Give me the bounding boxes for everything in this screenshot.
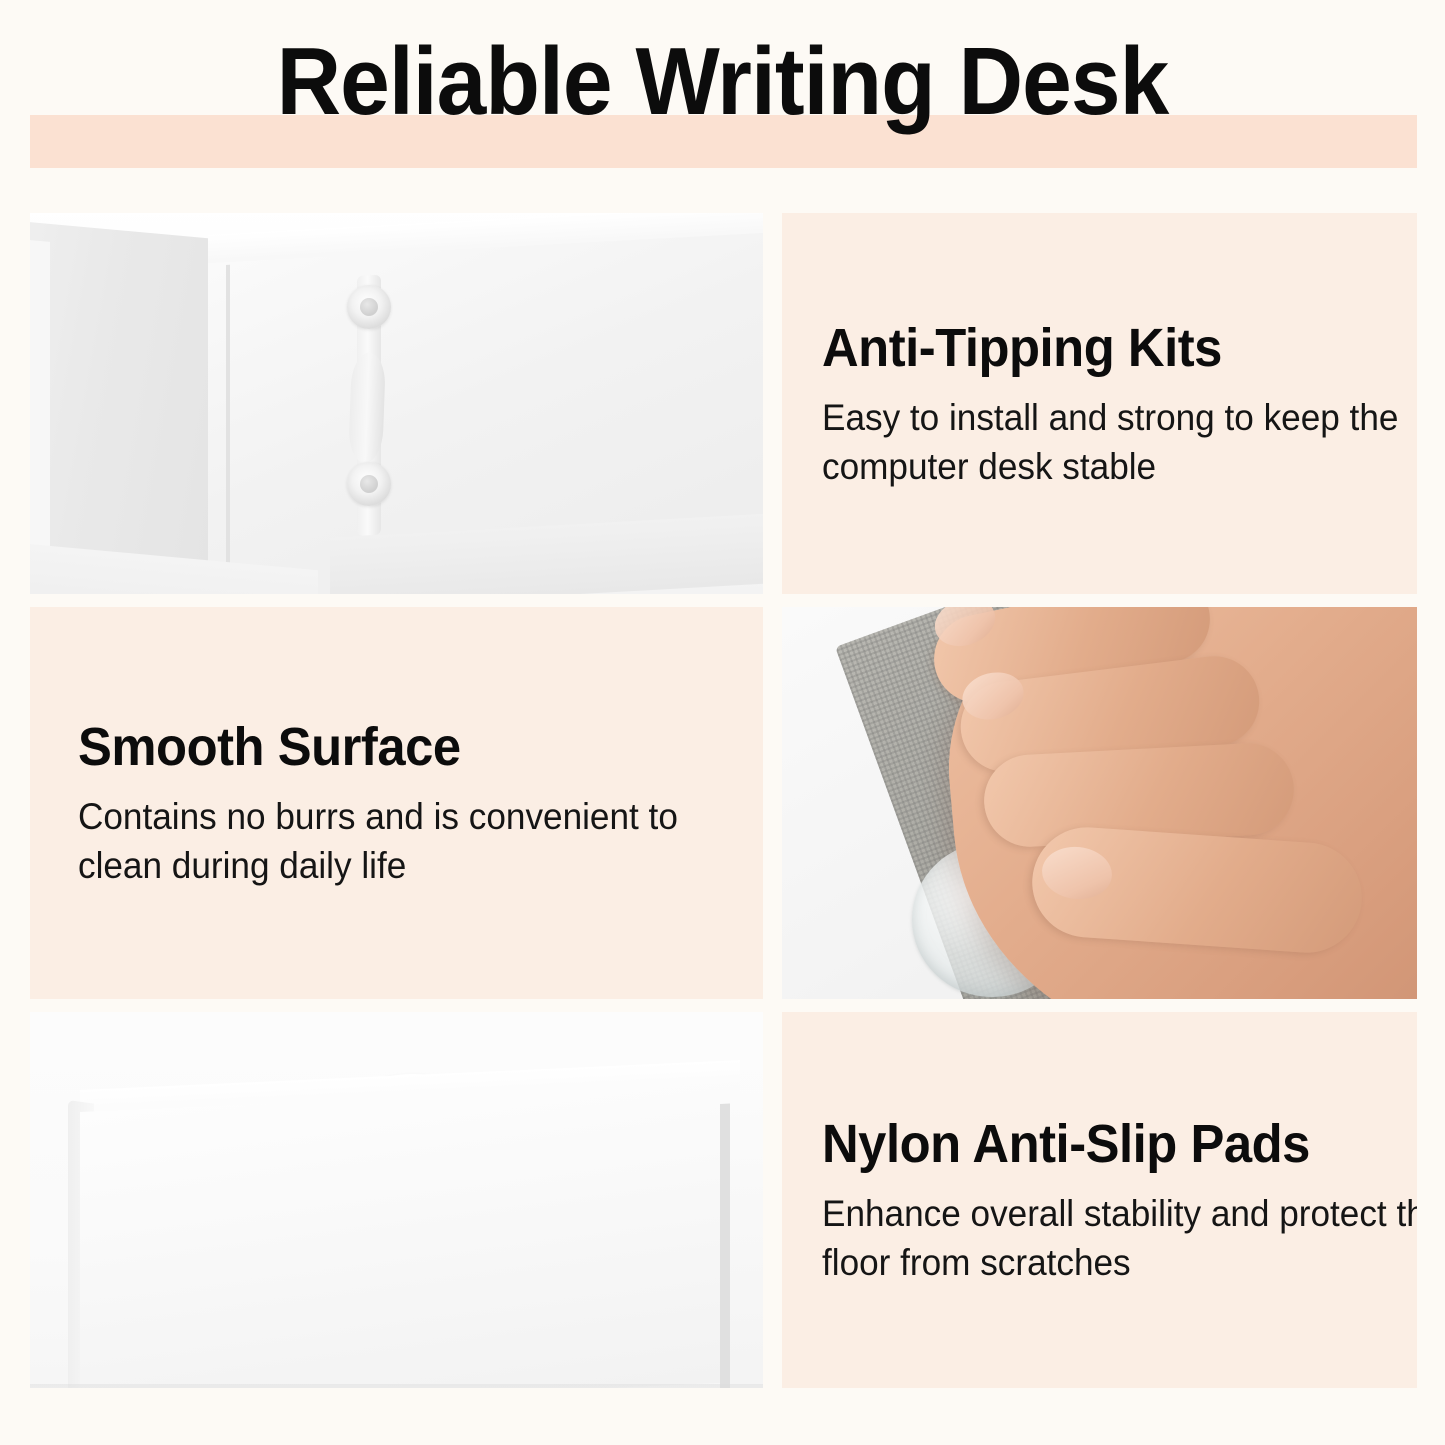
- feature-description-line: Contains no burrs and is convenient to: [78, 792, 700, 841]
- floor-shadow: [30, 1384, 763, 1388]
- feature-image-smooth-surface: [782, 607, 1417, 999]
- desk-side-panel: [30, 221, 208, 594]
- feature-text-nylon-anti-slip-pads: Nylon Anti-Slip Pads Enhance overall sta…: [782, 1012, 1417, 1388]
- feature-grid: Anti-Tipping Kits Easy to install and st…: [30, 213, 1417, 1388]
- feature-description: Contains no burrs and is convenient to c…: [78, 792, 700, 890]
- desk-side-panel-edge: [30, 239, 50, 594]
- feature-image-anti-tipping-kits: [30, 213, 763, 594]
- feature-description-line: computer desk stable: [822, 442, 1359, 491]
- page-title: Reliable Writing Desk: [51, 30, 1395, 134]
- feature-description: Enhance overall stability and protect th…: [822, 1189, 1359, 1287]
- feature-title: Anti-Tipping Kits: [822, 317, 1353, 379]
- feature-description-line: Easy to install and strong to keep the: [822, 393, 1359, 442]
- feature-description: Easy to install and strong to keep the c…: [822, 393, 1359, 491]
- desk-base-seam: [720, 1104, 730, 1388]
- feature-image-nylon-anti-slip-pads: [30, 1012, 763, 1388]
- strap-screw-top-icon: [347, 285, 391, 329]
- feature-title: Nylon Anti-Slip Pads: [822, 1113, 1353, 1175]
- desk-base-right-section: [730, 1097, 763, 1388]
- feature-title: Smooth Surface: [78, 716, 694, 778]
- strap-screw-bottom-icon: [347, 462, 391, 506]
- desk-panel-seam: [226, 265, 230, 594]
- feature-description-line: clean during daily life: [78, 841, 700, 890]
- header: Reliable Writing Desk: [0, 0, 1445, 200]
- feature-description-line: Enhance overall stability and protect th…: [822, 1189, 1359, 1238]
- feature-text-anti-tipping-kits: Anti-Tipping Kits Easy to install and st…: [782, 213, 1417, 594]
- desk-base-front: [80, 1082, 740, 1388]
- feature-description-line: floor from scratches: [822, 1238, 1359, 1287]
- feature-text-smooth-surface: Smooth Surface Contains no burrs and is …: [30, 607, 763, 999]
